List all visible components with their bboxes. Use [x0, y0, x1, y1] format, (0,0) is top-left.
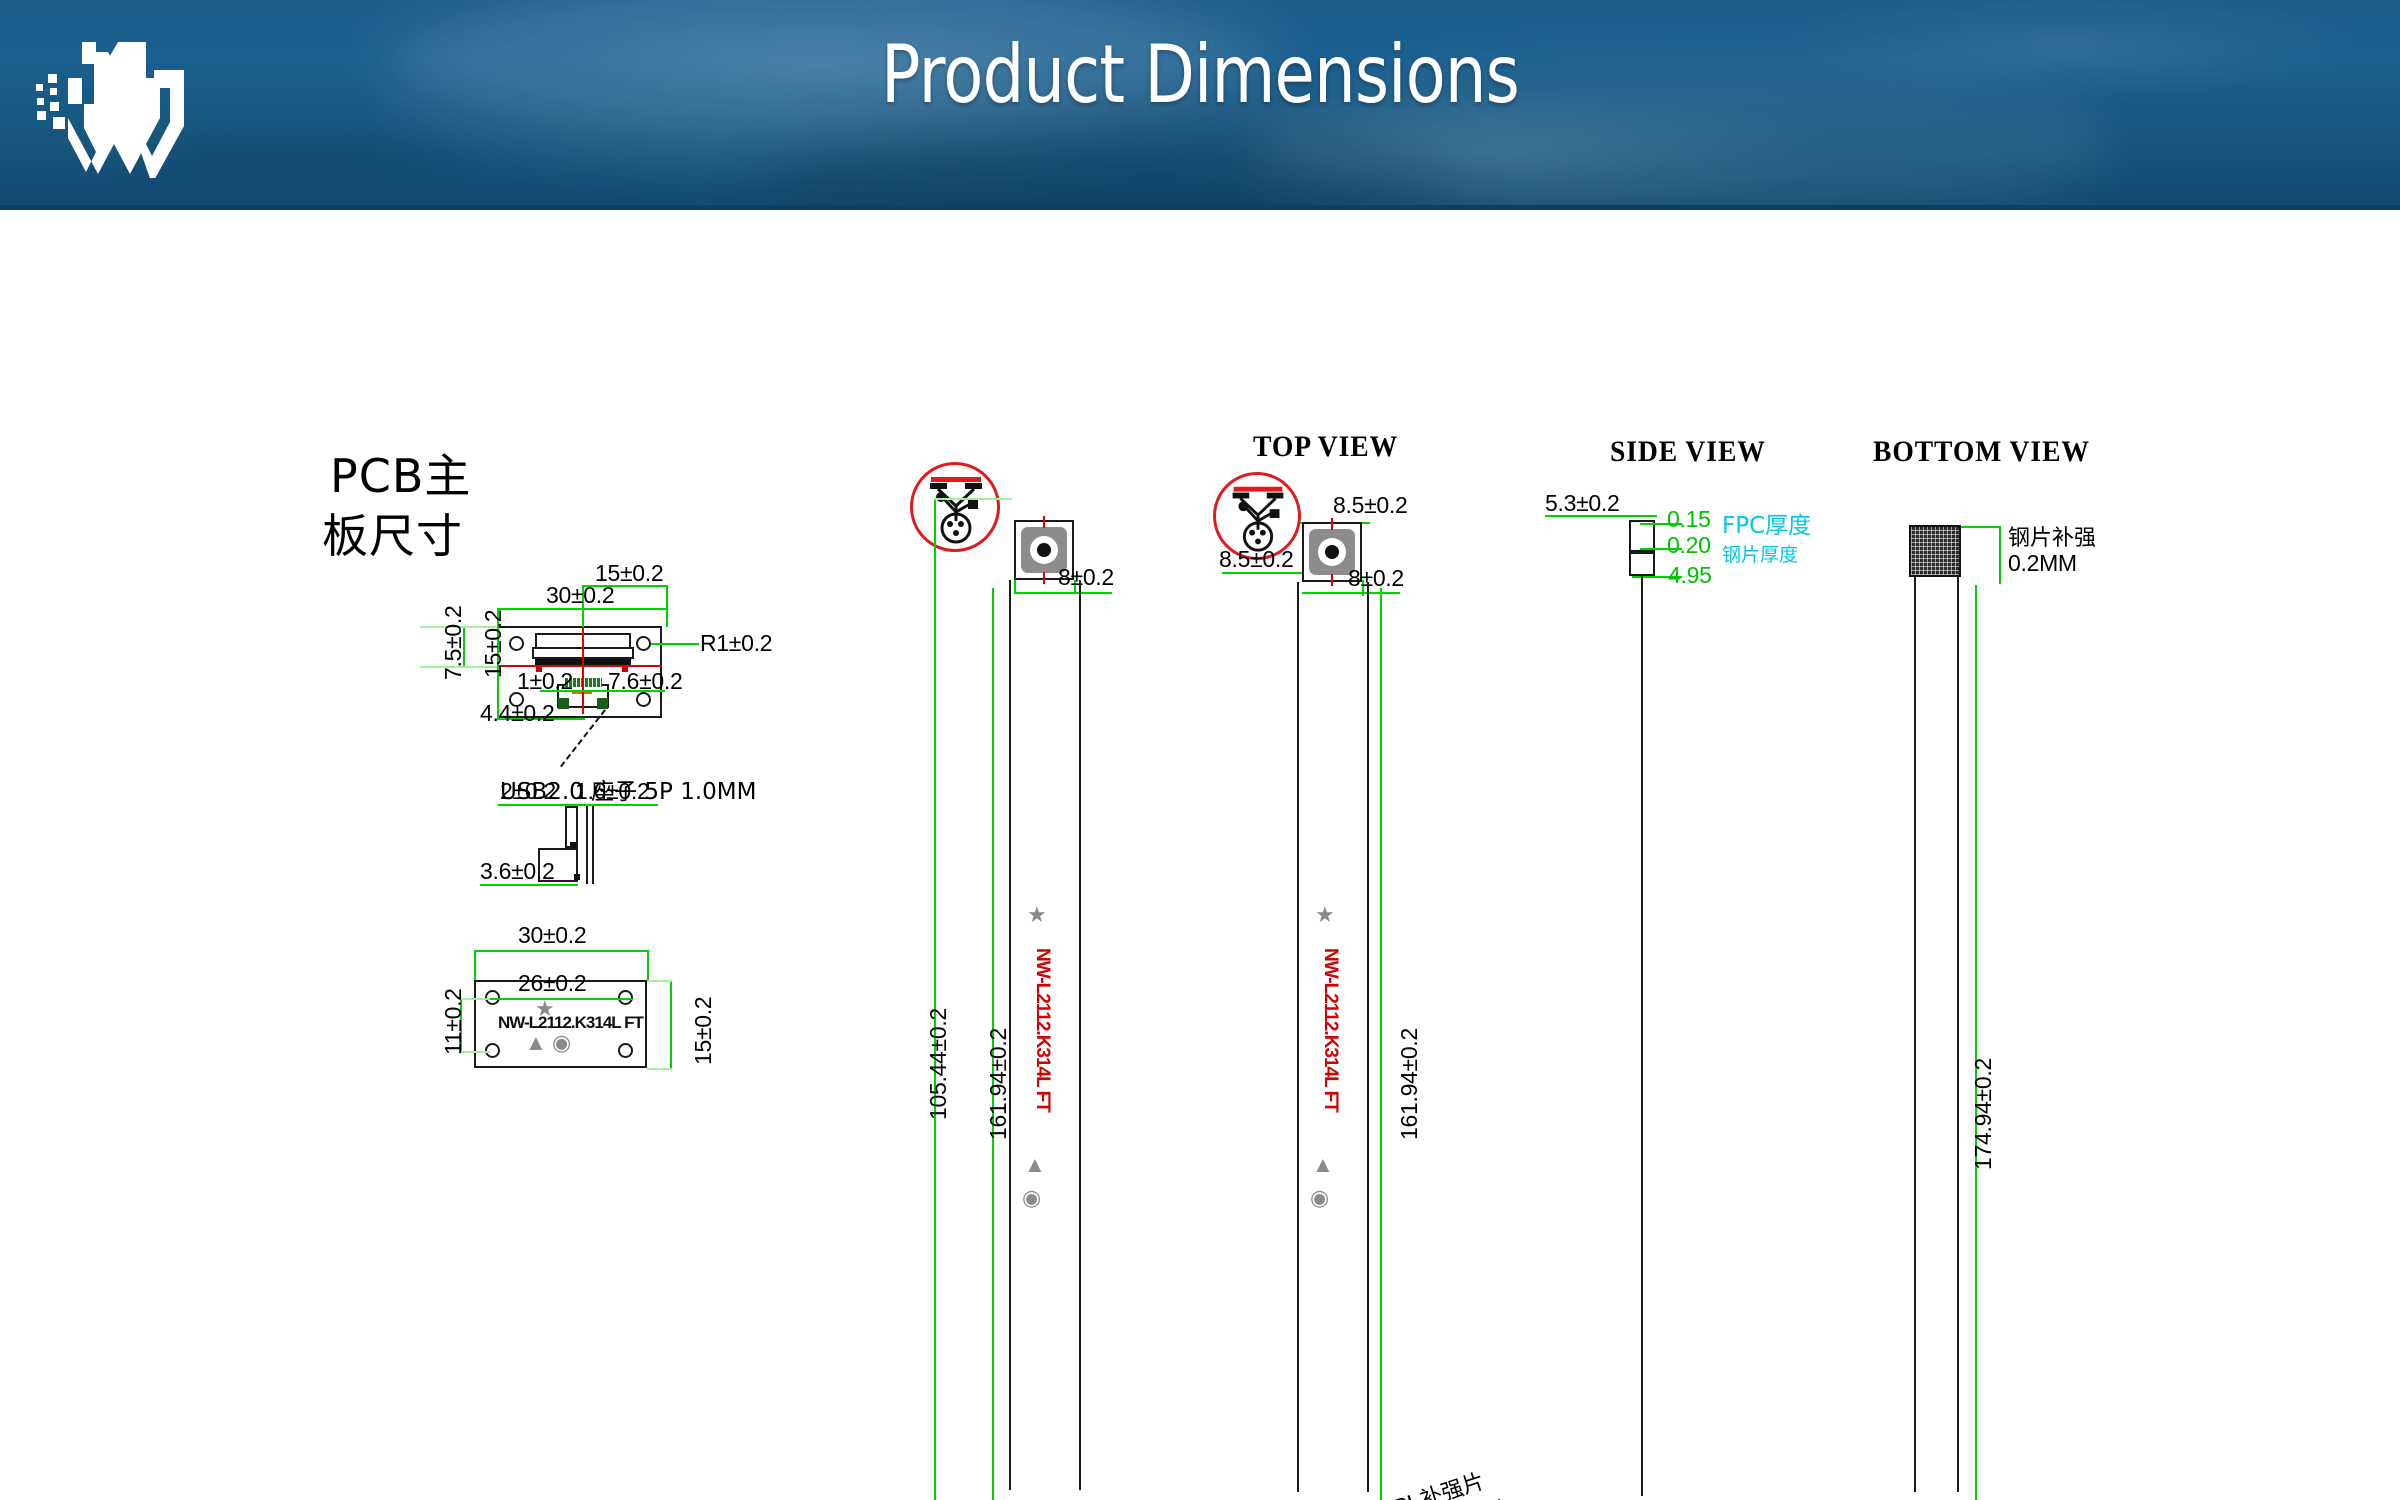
- pcb-bv-silk-mark-triangle: ▲: [525, 1030, 547, 1056]
- pcb-dim-corner-radius: R1±0.2: [700, 630, 772, 657]
- pcb-dim-offset-c: 4.4±0.2: [480, 700, 554, 727]
- camera-center-tick-top-front: [1043, 516, 1045, 528]
- pcb-dim-height-outer: 7.5±0.2: [440, 606, 467, 680]
- side-dim-body-height: 4.95: [1668, 562, 1712, 589]
- pcb-bv-dim-height-outer: 15±0.2: [690, 997, 717, 1065]
- camera-center-tick-top-top: [1331, 518, 1333, 530]
- fpc-silk-mark-circle-front: ◉: [1022, 1185, 1041, 1211]
- fpc-edge-right-bottom: [1957, 577, 1959, 1492]
- pcb-bv-dim-width-inner: 26±0.2: [518, 970, 586, 997]
- bottom-stiffener-leader: [1961, 526, 2001, 528]
- front-dim105-line: [934, 498, 936, 1500]
- pcb-profile-dim-a: 2±0.2: [500, 778, 556, 805]
- pcb-title-line2: 板尺寸: [322, 500, 463, 566]
- pcb-bv-dim30-ext-r: [647, 950, 649, 980]
- bottom-dim-cable-length: 174.94±0.2: [1970, 1058, 1997, 1170]
- top-dim-cable-long: 161.94±0.2: [1396, 1028, 1423, 1140]
- pcb-bv-dim15-lead-bot: [647, 1068, 672, 1070]
- side-dim53-line: [1545, 515, 1657, 517]
- camera-center-tick-bot-front: [1043, 572, 1045, 584]
- header-texture-3: [760, 120, 1460, 210]
- pcb-hole-tl: [509, 636, 524, 651]
- fpc-edge-right-front: [1079, 580, 1081, 1490]
- pcb-bv-dim30-line: [474, 950, 647, 952]
- pcb-bv-dim26-line: [485, 998, 633, 1000]
- fpc-silk-mark-triangle-front: ▲: [1024, 1152, 1046, 1178]
- pcb-title-line1: PCB主: [330, 440, 471, 506]
- pcb-profile-dim-c: 3.6±0.2: [480, 858, 554, 885]
- fpc-edge-left-top: [1297, 582, 1299, 1492]
- pcb-profile-right-edge-2: [592, 806, 594, 884]
- pcb-hole-tr: [636, 636, 651, 651]
- bottom-stiffener-label-1: 钢片补强: [2008, 520, 2096, 552]
- camera-lens-top: [1325, 545, 1339, 559]
- bottom-stiffener-leader-v: [1999, 526, 2001, 584]
- pcb-bv-dim-height-inner: 11±0.2: [440, 988, 467, 1055]
- side-dim-fpc-thickness: 0.15: [1667, 506, 1711, 533]
- top-dim8-line: [1302, 592, 1400, 594]
- side-fpc-label: FPC厚度: [1722, 506, 1811, 540]
- pcb-dim-15-ext-r: [666, 585, 668, 627]
- pcb-dim-height-inner: 15±0.2: [480, 610, 507, 678]
- fpc-silk-mark-triangle-top: ▲: [1312, 1152, 1334, 1178]
- pcb-bv-dim30-ext-l: [474, 950, 476, 980]
- drawing-canvas: PCB主 板尺寸: [0, 210, 2400, 1500]
- pcb-bv-hole-br: [618, 1043, 633, 1058]
- pcb-usb-anchor-left: [558, 698, 569, 709]
- pcb-dim-offset-b: 7.6±0.2: [608, 668, 682, 695]
- top-view-title: TOP VIEW: [1253, 430, 1398, 464]
- front-dim8-line: [1014, 592, 1112, 594]
- pcb-usb-anchor-right: [597, 698, 608, 709]
- top-dim-module-width-top: 8.5±0.2: [1333, 492, 1407, 519]
- side-fpc-edge: [1641, 576, 1643, 1496]
- pcb-centerline-v: [582, 622, 584, 714]
- pcb-centerline-h: [497, 665, 662, 667]
- pcb-dim-offset-a: 1±0.2: [517, 668, 573, 695]
- nw-shield-logo: [30, 18, 210, 178]
- side-view-title: SIDE VIEW: [1610, 435, 1766, 469]
- fpc-silk-mark-circle-top: ◉: [1310, 1185, 1329, 1211]
- fpc-silk-mark-star-top: ★: [1315, 902, 1335, 928]
- front-dim105-lead-top: [934, 498, 1012, 500]
- page-title: Product Dimensions: [216, 28, 2184, 121]
- bottom-dim174-line: [1975, 585, 1977, 1500]
- pcb-profile-right-edge: [586, 806, 588, 884]
- bottom-view-title: BOTTOM VIEW: [1873, 435, 2090, 469]
- bottom-stiffener-label-2: 0.2MM: [2008, 550, 2077, 577]
- top-part-number: NW-L2112.K314L FT: [1319, 948, 1341, 1112]
- front-dim8-ext-l: [1014, 580, 1016, 594]
- side-module-lower-body: [1629, 552, 1655, 576]
- slide-header: Product Dimensions: [0, 0, 2400, 210]
- top-dim-module-width-left: 8.5±0.2: [1219, 546, 1293, 573]
- front-part-number: NW-L2112.K314L FT: [1031, 948, 1053, 1112]
- fpc-silk-mark-star-front: ★: [1027, 902, 1047, 928]
- fpc-edge-left-bottom: [1914, 577, 1916, 1492]
- top-dim-module-width-right: 8±0.2: [1348, 565, 1404, 592]
- pcb-profile-dim-b: 1.6±0.2: [575, 778, 649, 805]
- slide-root: Product Dimensions PCB主 板尺寸: [0, 0, 2400, 1500]
- side-dim-steel-thickness: 0.20: [1667, 532, 1711, 559]
- bottom-stiffener-square: [1909, 525, 1961, 577]
- side-dim-offset-top: 5.3±0.2: [1545, 490, 1619, 517]
- pcb-bv-dim15-lead-top: [647, 980, 672, 982]
- camera-lens-front: [1037, 543, 1051, 557]
- pcb-profile-notch-a: [570, 842, 576, 848]
- front-dim-cable-short: 105.44±0.2: [925, 1008, 952, 1120]
- pcb-profile-notch-b: [574, 874, 580, 880]
- top-pi-note-1: PI 补强片: [1390, 1463, 1488, 1500]
- side-steel-label: 钢片厚度: [1722, 540, 1798, 567]
- pcb-dim-r1-leader: [651, 643, 699, 645]
- front-dim-module-width: 8±0.2: [1058, 564, 1114, 591]
- front-dim-cable-long: 161.94±0.2: [985, 1028, 1012, 1140]
- top-dim161-line: [1380, 588, 1382, 1500]
- fpc-edge-right-top: [1367, 582, 1369, 1492]
- camera-center-tick-bot-top: [1331, 574, 1333, 586]
- pcb-dim-width-outer: 30±0.2: [546, 582, 614, 609]
- pcb-bv-dim-width-outer: 30±0.2: [518, 922, 586, 949]
- pcb-bv-dim15-ext: [670, 980, 672, 1068]
- detail-callout-sketch-front: [914, 466, 998, 550]
- pcb-bv-silk-mark-circle: ◉: [552, 1030, 571, 1056]
